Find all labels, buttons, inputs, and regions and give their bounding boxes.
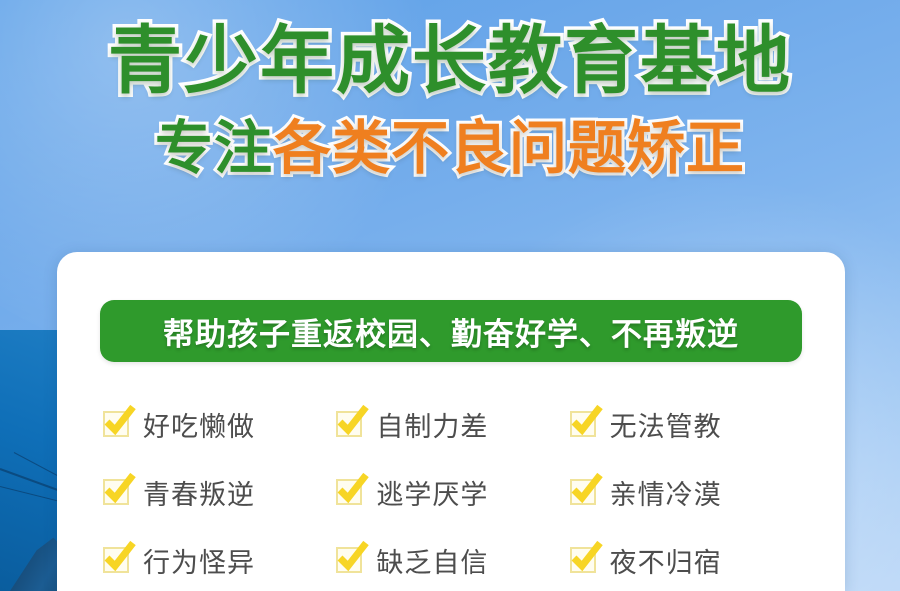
list-item[interactable]: 逃学厌学 bbox=[336, 473, 569, 512]
list-item-label: 夜不归宿 bbox=[610, 541, 722, 580]
green-banner: 帮助孩子重返校园、勤奋好学、不再叛逆 bbox=[100, 300, 802, 362]
subtitle-orange-part: 各类不良问题矫正 bbox=[273, 116, 745, 181]
list-item[interactable]: 青春叛逆 bbox=[103, 473, 336, 512]
list-item-label: 亲情冷漠 bbox=[610, 473, 722, 512]
list-item-label: 好吃懒做 bbox=[143, 405, 255, 444]
checklist-grid: 好吃懒做 自制力差 无法管教 bbox=[103, 390, 803, 591]
promo-poster: 青少年成长教育基地 专注各类不良问题矫正 帮助孩子重返校园、勤奋好学、不再叛逆 … bbox=[0, 0, 900, 591]
list-item[interactable]: 缺乏自信 bbox=[336, 541, 569, 580]
list-item-label: 自制力差 bbox=[376, 405, 488, 444]
check-icon[interactable] bbox=[570, 547, 596, 573]
headline-block: 青少年成长教育基地 专注各类不良问题矫正 bbox=[0, 24, 900, 178]
check-icon[interactable] bbox=[336, 411, 362, 437]
check-icon[interactable] bbox=[103, 479, 129, 505]
check-icon[interactable] bbox=[570, 479, 596, 505]
list-item[interactable]: 亲情冷漠 bbox=[570, 473, 803, 512]
list-item[interactable]: 好吃懒做 bbox=[103, 405, 336, 444]
banner-text: 帮助孩子重返校园、勤奋好学、不再叛逆 bbox=[163, 309, 739, 354]
list-item-label: 行为怪异 bbox=[143, 541, 255, 580]
list-item[interactable]: 行为怪异 bbox=[103, 541, 336, 580]
list-item[interactable]: 自制力差 bbox=[336, 405, 569, 444]
page-title: 青少年成长教育基地 bbox=[0, 24, 900, 98]
list-item-label: 逃学厌学 bbox=[376, 473, 488, 512]
check-icon[interactable] bbox=[336, 479, 362, 505]
check-icon[interactable] bbox=[336, 547, 362, 573]
check-icon[interactable] bbox=[103, 411, 129, 437]
check-icon[interactable] bbox=[103, 547, 129, 573]
list-item-label: 青春叛逆 bbox=[143, 473, 255, 512]
list-item-label: 无法管教 bbox=[610, 405, 722, 444]
list-item[interactable]: 夜不归宿 bbox=[570, 541, 803, 580]
list-item-label: 缺乏自信 bbox=[376, 541, 488, 580]
subtitle: 专注各类不良问题矫正 bbox=[0, 120, 900, 178]
subtitle-green-part: 专注 bbox=[155, 116, 273, 181]
check-icon[interactable] bbox=[570, 411, 596, 437]
content-card: 帮助孩子重返校园、勤奋好学、不再叛逆 好吃懒做 自制力差 bbox=[57, 252, 845, 591]
list-item[interactable]: 无法管教 bbox=[570, 405, 803, 444]
